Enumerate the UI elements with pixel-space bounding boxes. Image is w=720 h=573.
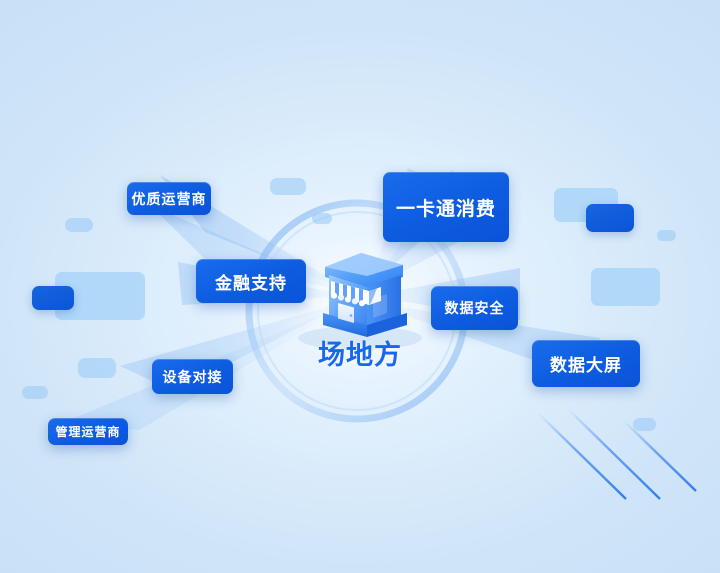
node-all-in-one-card[interactable]: 一卡通消费 xyxy=(383,172,509,242)
node-label: 数据大屏 xyxy=(550,351,622,376)
node-data-security[interactable]: 数据安全 xyxy=(431,286,518,330)
node-financial-support[interactable]: 金融支持 xyxy=(196,259,306,303)
node-label: 数据安全 xyxy=(445,298,505,318)
deco-rect-right-2 xyxy=(657,230,676,241)
node-data-dashboard[interactable]: 数据大屏 xyxy=(532,340,640,387)
page-title: 场地方 xyxy=(290,333,430,372)
node-label: 金融支持 xyxy=(215,269,287,294)
deco-rect-left-mid xyxy=(65,218,93,232)
node-label: 管理运营商 xyxy=(55,423,120,440)
infographic-canvas: 场地方 优质运营商 金融支持 一卡通消费 数据安全 数据大屏 设备对接 管理运营… xyxy=(0,0,720,573)
deco-rect-top-2 xyxy=(312,213,332,224)
deco-rect-left-solid xyxy=(32,286,74,310)
node-device-docking[interactable]: 设备对接 xyxy=(152,359,233,394)
node-quality-operator[interactable]: 优质运营商 xyxy=(127,182,211,215)
node-label: 优质运营商 xyxy=(132,189,207,209)
node-label: 一卡通消费 xyxy=(396,194,496,221)
deco-rect-left-2 xyxy=(78,358,116,378)
deco-rect-right-solid xyxy=(586,204,634,232)
store-icon xyxy=(307,243,415,339)
node-management-operator[interactable]: 管理运营商 xyxy=(48,418,128,445)
deco-rect-top-1 xyxy=(270,178,306,195)
streak-lines xyxy=(520,403,720,513)
deco-rect-right-3 xyxy=(591,268,660,306)
deco-rect-left-3 xyxy=(22,386,48,399)
node-label: 设备对接 xyxy=(163,367,223,387)
